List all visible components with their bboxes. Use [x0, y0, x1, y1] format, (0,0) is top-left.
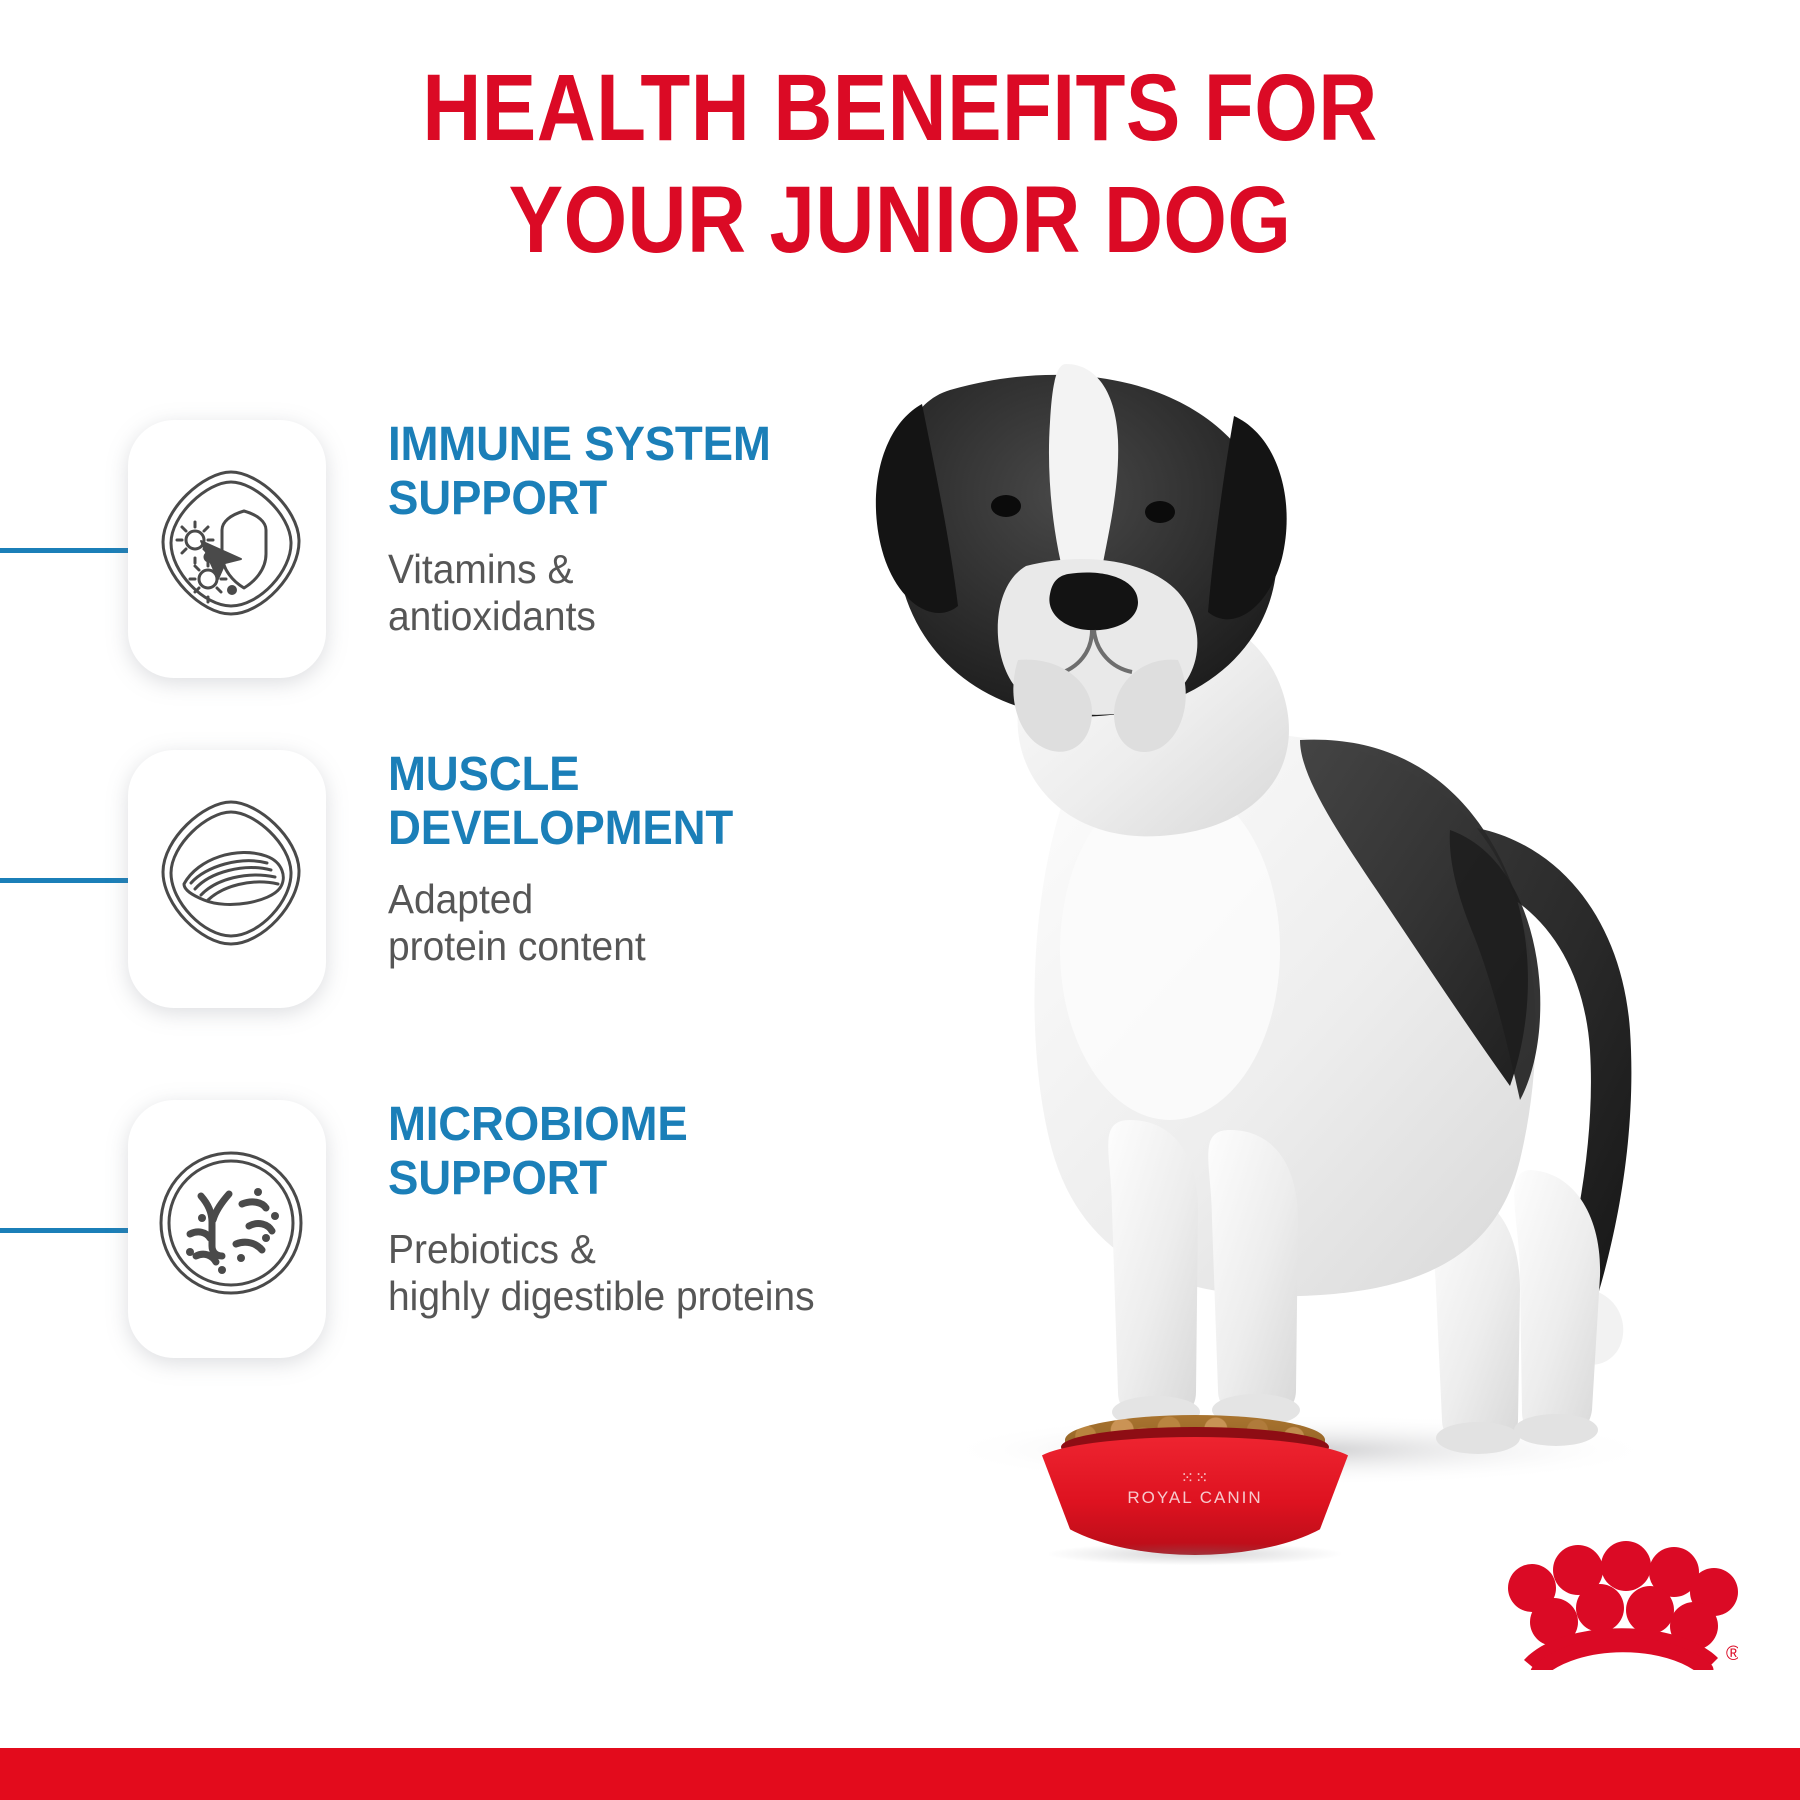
dog-photo: [830, 330, 1730, 1510]
page-title: HEALTH BENEFITS FOR YOUR JUNIOR DOG: [126, 52, 1674, 276]
benefit-subtext-3: Prebiotics & highly digestible proteins: [388, 1226, 863, 1321]
benefit-item-microbiome-support: MICROBIOME SUPPORT Prebiotics & highly d…: [0, 1080, 900, 1380]
benefit-subtext-1: Vitamins & antioxidants: [388, 546, 863, 641]
bowl-ground-shadow: [1049, 1543, 1341, 1565]
muscle-fiber-icon: [146, 788, 316, 958]
microbiome-bacteria-icon: [146, 1138, 316, 1308]
benefit-subtext-2: Adapted protein content: [388, 876, 863, 971]
benefit-item-immune-system: IMMUNE SYSTEM SUPPORT Vitamins & antioxi…: [0, 400, 900, 700]
bottom-red-band: [0, 1748, 1800, 1800]
poster-canvas: HEALTH BENEFITS FOR YOUR JUNIOR DOG: [0, 0, 1800, 1800]
immune-shield-icon: [146, 458, 316, 628]
benefit-heading-3: MICROBIOME SUPPORT: [388, 1098, 863, 1206]
royal-canin-bowl: ⁙⁙ ROYAL CANIN: [1035, 1415, 1355, 1565]
benefit-heading-2: MUSCLE DEVELOPMENT: [388, 748, 863, 856]
bowl-crown-icon: ⁙⁙: [1113, 1473, 1277, 1485]
connector-line-1: [0, 548, 132, 553]
connector-line-2: [0, 878, 132, 883]
benefit-text-1: IMMUNE SYSTEM SUPPORT Vitamins & antioxi…: [388, 418, 888, 641]
benefit-heading-1: IMMUNE SYSTEM SUPPORT: [388, 418, 863, 526]
connector-line-3: [0, 1228, 132, 1233]
benefit-text-2: MUSCLE DEVELOPMENT Adapted protein conte…: [388, 748, 888, 971]
registered-mark: ®: [1726, 1643, 1738, 1665]
royal-canin-crown-logo: ®: [1502, 1510, 1738, 1670]
bowl-brand-logo: ⁙⁙ ROYAL CANIN: [1113, 1473, 1277, 1508]
benefits-list: IMMUNE SYSTEM SUPPORT Vitamins & antioxi…: [0, 400, 900, 1400]
bowl-brand-text: ROYAL CANIN: [1113, 1488, 1277, 1508]
benefit-item-muscle-development: MUSCLE DEVELOPMENT Adapted protein conte…: [0, 730, 900, 1030]
benefit-text-3: MICROBIOME SUPPORT Prebiotics & highly d…: [388, 1098, 888, 1321]
